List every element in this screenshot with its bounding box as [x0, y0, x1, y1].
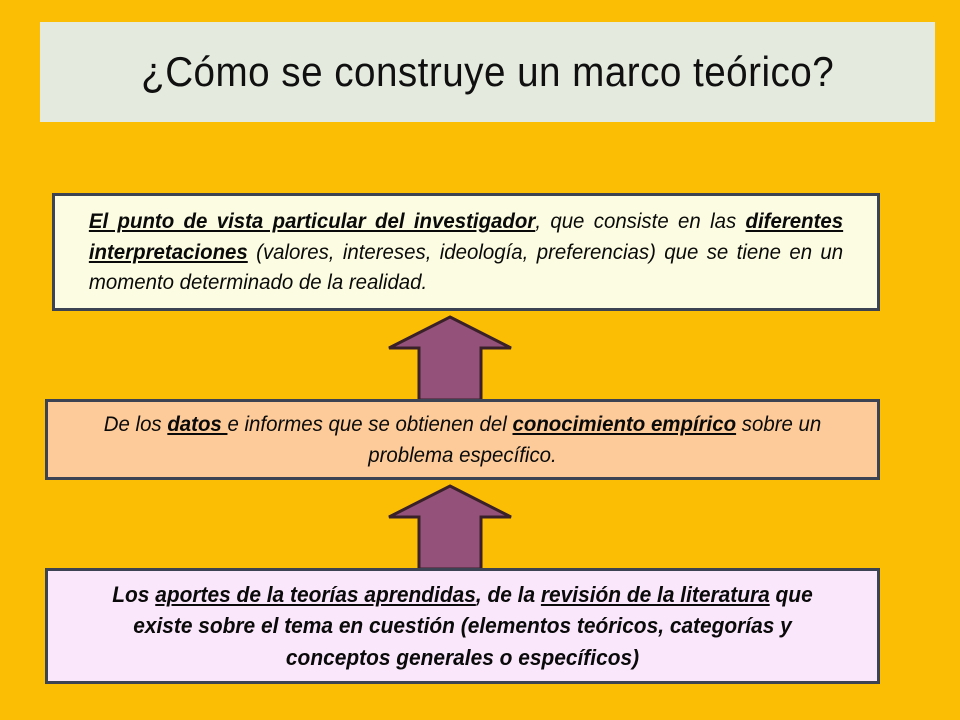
page-title: ¿Cómo se construye un marco teórico?	[141, 48, 834, 96]
box-empirical-seg-0: De los	[104, 412, 168, 436]
box-viewpoint-text: El punto de vista particular del investi…	[89, 206, 843, 298]
box-empirical-seg-2: e informes que se obtienen del	[227, 412, 512, 436]
box-theory-seg-3: revisión de la literatura	[541, 582, 770, 607]
box-theory-seg-0: Los	[112, 582, 155, 607]
box-theory-text: Los aportes de la teorías aprendidas, de…	[86, 579, 839, 673]
box-theory-seg-1: aportes de la teorías aprendidas	[155, 582, 476, 607]
arrow-up-icon-upper	[385, 313, 515, 403]
box-viewpoint-seg-0: El punto de vista particular del investi…	[89, 209, 535, 233]
box-empirical-seg-1: datos	[167, 412, 227, 436]
box-empirical: De los datos e informes que se obtienen …	[45, 399, 880, 480]
box-viewpoint-seg-1: , que consiste en las	[535, 209, 745, 233]
box-empirical-seg-3: conocimiento empírico	[512, 412, 736, 436]
box-empirical-text: De los datos e informes que se obtienen …	[84, 409, 841, 470]
slide-canvas: ¿Cómo se construye un marco teórico? El …	[0, 0, 960, 720]
slide-title-band: ¿Cómo se construye un marco teórico?	[40, 22, 935, 122]
arrow-up-icon-lower	[385, 482, 515, 572]
box-viewpoint: El punto de vista particular del investi…	[52, 193, 880, 311]
box-theory-seg-2: , de la	[476, 582, 541, 607]
box-theory: Los aportes de la teorías aprendidas, de…	[45, 568, 880, 684]
